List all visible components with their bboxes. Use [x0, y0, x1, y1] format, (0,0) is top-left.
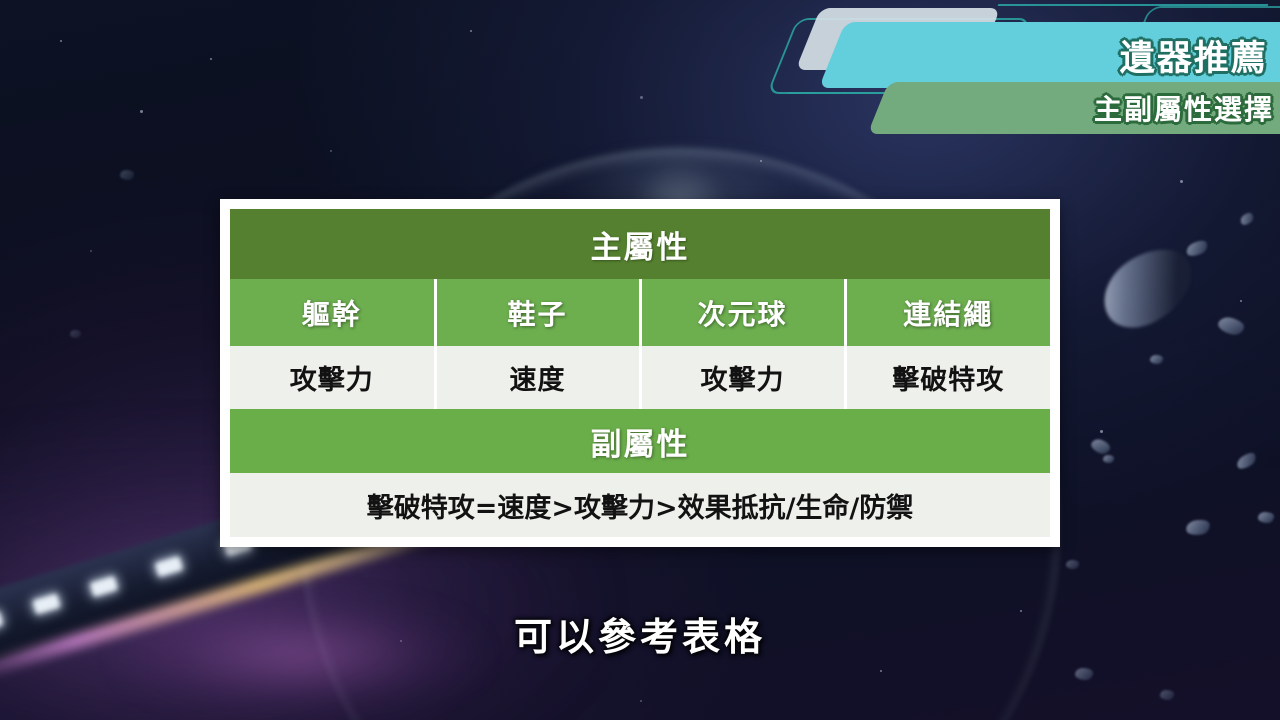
- asteroid: [1075, 668, 1093, 680]
- value-body: 攻擊力: [230, 346, 435, 409]
- table-row-main-title: 主屬性: [230, 209, 1050, 279]
- banner-secondary-label: 主副屬性選擇: [1094, 88, 1280, 128]
- main-stat-section-title: 主屬性: [230, 209, 1050, 279]
- screenshot-stage: 遺器推薦 主副屬性選擇 主屬性 軀幹 鞋子 次元球 連結繩 攻擊力 速度 攻擊力…: [0, 0, 1280, 720]
- banner-secondary: 主副屬性選擇: [867, 82, 1280, 134]
- subtitle-caption: 可以參考表格: [0, 606, 1280, 661]
- asteroid: [1103, 455, 1114, 463]
- asteroid: [1160, 690, 1174, 700]
- column-header-rope: 連結繩: [845, 279, 1050, 346]
- banner-primary-label: 遺器推薦: [1120, 30, 1280, 81]
- value-feet: 速度: [435, 346, 640, 409]
- value-sphere: 攻擊力: [640, 346, 845, 409]
- relic-stats-table: 主屬性 軀幹 鞋子 次元球 連結繩 攻擊力 速度 攻擊力 擊破特攻 副屬性 擊破…: [220, 199, 1060, 547]
- asteroid: [120, 170, 134, 180]
- table-row-values: 攻擊力 速度 攻擊力 擊破特攻: [230, 346, 1050, 409]
- stats-table: 主屬性 軀幹 鞋子 次元球 連結繩 攻擊力 速度 攻擊力 擊破特攻 副屬性 擊破…: [230, 209, 1050, 537]
- table-row-sub-priority: 擊破特攻=速度>攻擊力>效果抵抗/生命/防禦: [230, 473, 1050, 537]
- asteroid: [1150, 355, 1163, 364]
- asteroid: [1066, 560, 1079, 569]
- value-rope: 擊破特攻: [845, 346, 1050, 409]
- sub-stat-priority-text: 擊破特攻=速度>攻擊力>效果抵抗/生命/防禦: [230, 473, 1050, 537]
- column-header-feet: 鞋子: [435, 279, 640, 346]
- sub-stat-section-title: 副屬性: [230, 409, 1050, 473]
- banner-primary: 遺器推薦: [819, 22, 1280, 88]
- asteroid: [1258, 512, 1274, 523]
- header-banner-group: 遺器推薦 主副屬性選擇: [780, 0, 1280, 140]
- column-header-body: 軀幹: [230, 279, 435, 346]
- asteroid: [70, 330, 81, 338]
- table-row-sub-title: 副屬性: [230, 409, 1050, 473]
- column-header-sphere: 次元球: [640, 279, 845, 346]
- table-row-column-headers: 軀幹 鞋子 次元球 連結繩: [230, 279, 1050, 346]
